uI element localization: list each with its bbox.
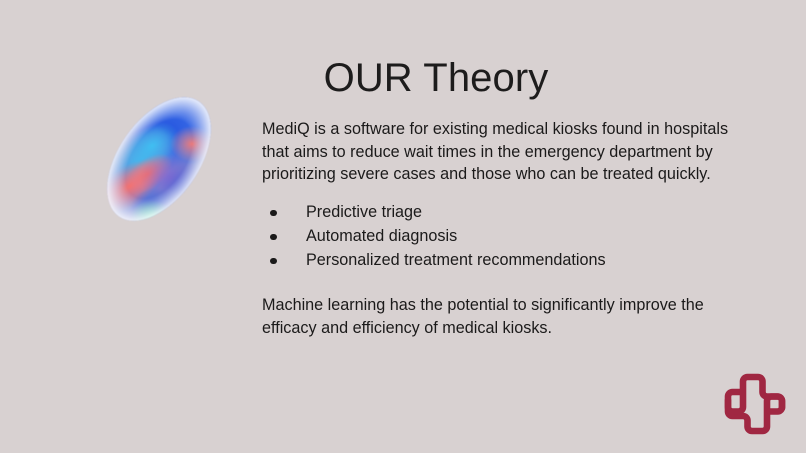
gradient-blob-decoration (92, 86, 226, 232)
gradient-blob-ellipse-icon (92, 86, 226, 232)
page-title: OUR Theory (262, 56, 610, 101)
list-item: Predictive triage (270, 201, 750, 224)
list-item-label: Predictive triage (306, 203, 422, 221)
closing-paragraph: Machine learning has the potential to si… (262, 294, 750, 339)
medical-cross-logo (719, 368, 791, 440)
bullet-dot-icon (270, 234, 277, 241)
slide-canvas: OUR Theory MediQ is a software for exist… (0, 0, 806, 453)
medical-cross-icon (719, 368, 791, 440)
slide-body: MediQ is a software for existing medical… (262, 118, 750, 339)
feature-bullet-list: Predictive triage Automated diagnosis Pe… (262, 201, 750, 272)
bullet-dot-icon (270, 210, 277, 217)
intro-paragraph: MediQ is a software for existing medical… (262, 118, 750, 186)
list-item-label: Automated diagnosis (306, 227, 457, 245)
list-item: Automated diagnosis (270, 225, 750, 248)
list-item: Personalized treatment recommendations (270, 249, 750, 272)
list-item-label: Personalized treatment recommendations (306, 251, 606, 269)
bullet-dot-icon (270, 258, 277, 265)
